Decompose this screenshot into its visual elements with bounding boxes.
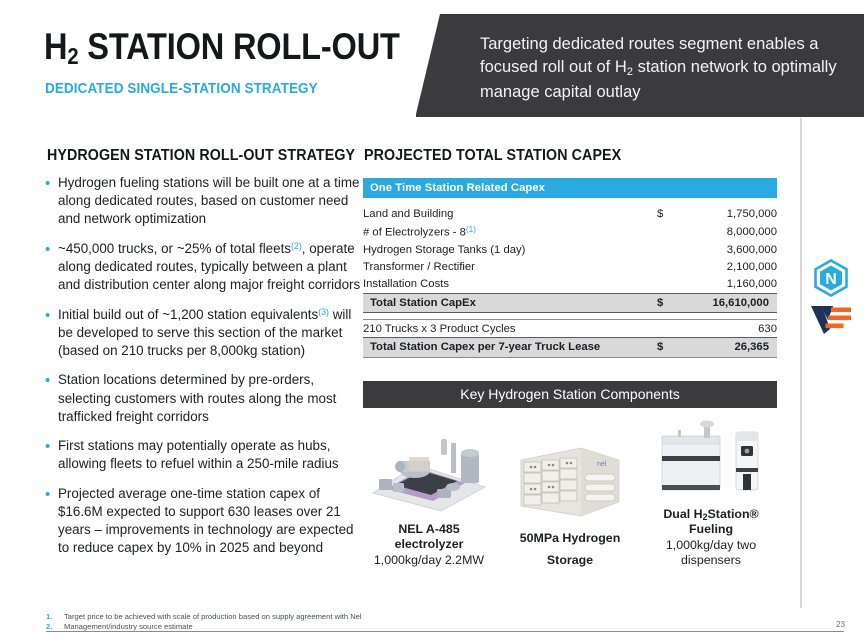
row-currency xyxy=(657,275,681,293)
footnote-item: 1. Target price to be achieved with scal… xyxy=(46,612,466,622)
row-value: 3,600,000 xyxy=(681,241,777,258)
row-label: Hydrogen Storage Tanks (1 day) xyxy=(363,241,657,258)
row-label: Total Station CapEx xyxy=(363,293,657,312)
component-title: 50MPa Hydrogen xyxy=(504,531,636,546)
table-spacer xyxy=(363,198,777,205)
list-item-text: Projected average one-time station capex… xyxy=(58,485,365,558)
bullet-marker: • xyxy=(45,437,58,473)
component-electrolyzer: NEL A-485 electrolyzer 1,000kg/day 2.2MW xyxy=(363,429,495,568)
title-subscript: 2 xyxy=(67,43,78,69)
row-label: Installation Costs xyxy=(363,275,657,293)
row-value: 630 xyxy=(681,319,777,337)
footnote-item: 2. Management/industry source estimate xyxy=(46,622,466,632)
row-currency xyxy=(657,319,681,337)
row-currency: $ xyxy=(657,293,681,312)
row-label: # of Electrolyzers - 8(1) xyxy=(363,222,657,241)
component-subtitle: 1,000kg/day two dispensers xyxy=(645,538,777,568)
list-item: • Initial build out of ~1,200 station eq… xyxy=(45,306,365,361)
list-item-text: Station locations determined by pre-orde… xyxy=(58,371,365,426)
table-spacer xyxy=(363,312,777,319)
list-item: • First stations may potentially operate… xyxy=(45,437,365,473)
header-banner: Targeting dedicated routes segment enabl… xyxy=(416,14,864,114)
table-row-total: Total Station Capex per 7-year Truck Lea… xyxy=(363,338,777,357)
table-row: Hydrogen Storage Tanks (1 day) 3,600,000 xyxy=(363,241,777,258)
row-currency: $ xyxy=(657,205,681,222)
capex-table-wrapper: One Time Station Related Capex Land and … xyxy=(363,178,777,358)
row-label: Total Station Capex per 7-year Truck Lea… xyxy=(363,338,657,357)
components-band-title: Key Hydrogen Station Components xyxy=(363,381,777,408)
banner-underline xyxy=(416,114,864,117)
footnote-text: Target price to be achieved with scale o… xyxy=(64,612,362,622)
row-value: 2,100,000 xyxy=(681,258,777,275)
row-currency: $ xyxy=(657,338,681,357)
page-subtitle: DEDICATED SINGLE-STATION STRATEGY xyxy=(45,80,318,97)
bullet-marker: • xyxy=(45,174,58,229)
row-currency xyxy=(657,222,681,241)
hydrogen-storage-rack-image: nel xyxy=(504,438,636,524)
row-value: 26,365 xyxy=(681,338,777,357)
capex-table-header-band: One Time Station Related Capex xyxy=(363,178,777,198)
footnote-ref: (2) xyxy=(291,241,302,251)
nikola-hexagon-logo-icon: N xyxy=(811,258,851,298)
row-value: 8,000,000 xyxy=(681,222,777,241)
list-item-text: Hydrogen fueling stations will be built … xyxy=(58,174,365,229)
bullet-marker: • xyxy=(45,306,58,361)
row-label: 210 Trucks x 3 Product Cycles xyxy=(363,319,657,337)
table-row: Land and Building $ 1,750,000 xyxy=(363,205,777,222)
component-fueling: Dual H2Station® Fueling 1,000kg/day two … xyxy=(645,414,777,568)
strategy-bullet-list: • Hydrogen fueling stations will be buil… xyxy=(45,174,365,568)
components-row: NEL A-485 electrolyzer 1,000kg/day 2.2MW xyxy=(363,414,777,568)
footnote-text: Management/industry source estimate xyxy=(64,622,193,632)
table-row: Installation Costs 1,160,000 xyxy=(363,275,777,293)
component-title: Dual H2Station® Fueling xyxy=(645,507,777,537)
fueling-dispenser-image xyxy=(645,414,777,500)
bullet-marker: • xyxy=(45,371,58,426)
bullet-marker: • xyxy=(45,240,58,295)
footnote-list: 1. Target price to be achieved with scal… xyxy=(46,612,466,631)
component-subtitle: 1,000kg/day 2.2MW xyxy=(363,553,495,568)
list-item-text: ~450,000 trucks, or ~25% of total fleets… xyxy=(58,240,365,295)
page-title: H2 STATION ROLL-OUT xyxy=(44,26,400,70)
svg-text:nel: nel xyxy=(597,461,607,468)
row-label: Land and Building xyxy=(363,205,657,222)
footnote-number: 1. xyxy=(46,612,64,622)
capex-table: Land and Building $ 1,750,000 # of Elect… xyxy=(363,198,777,358)
row-value: 1,750,000 xyxy=(681,205,777,222)
page-number: 23 xyxy=(836,620,845,629)
table-row-total: Total Station CapEx $ 16,610,000 xyxy=(363,293,777,312)
logo-stack: N xyxy=(806,258,856,336)
list-item: • Projected average one-time station cap… xyxy=(45,485,365,558)
footnote-number: 2. xyxy=(46,622,64,632)
component-title: NEL A-485 electrolyzer xyxy=(363,522,495,552)
footer-divider xyxy=(46,631,844,632)
row-value: 16,610,000 xyxy=(681,293,777,312)
table-row: 210 Trucks x 3 Product Cycles 630 xyxy=(363,319,777,337)
component-storage: nel 50MPa Hydrogen Storage xyxy=(504,438,636,568)
svg-text:N: N xyxy=(825,271,837,288)
footnote-ref: (1) xyxy=(466,225,476,234)
bullet-marker: • xyxy=(45,485,58,558)
electrolyzer-plant-image xyxy=(363,429,495,515)
slide-canvas: H2 STATION ROLL-OUT DEDICATED SINGLE-STA… xyxy=(0,0,864,637)
table-row: # of Electrolyzers - 8(1) 8,000,000 xyxy=(363,222,777,241)
row-label: Transformer / Rectifier xyxy=(363,258,657,275)
left-section-heading: HYDROGEN STATION ROLL-OUT STRATEGY xyxy=(47,147,355,165)
list-item: • Hydrogen fueling stations will be buil… xyxy=(45,174,365,229)
footnote-ref: (3) xyxy=(318,307,329,317)
list-item: • ~450,000 trucks, or ~25% of total flee… xyxy=(45,240,365,295)
list-item-text: Initial build out of ~1,200 station equi… xyxy=(58,306,365,361)
table-row: Transformer / Rectifier 2,100,000 xyxy=(363,258,777,275)
list-item-text: First stations may potentially operate a… xyxy=(58,437,365,473)
header-banner-text: Targeting dedicated routes segment enabl… xyxy=(480,33,850,105)
row-currency xyxy=(657,258,681,275)
vertical-divider xyxy=(800,118,802,608)
row-value: 1,160,000 xyxy=(681,275,777,293)
capex-section-heading: PROJECTED TOTAL STATION CAPEX xyxy=(364,147,621,165)
list-item: • Station locations determined by pre-or… xyxy=(45,371,365,426)
row-currency xyxy=(657,241,681,258)
vectoiq-v-logo-icon xyxy=(809,302,853,336)
component-title-line2: Storage xyxy=(504,553,636,568)
